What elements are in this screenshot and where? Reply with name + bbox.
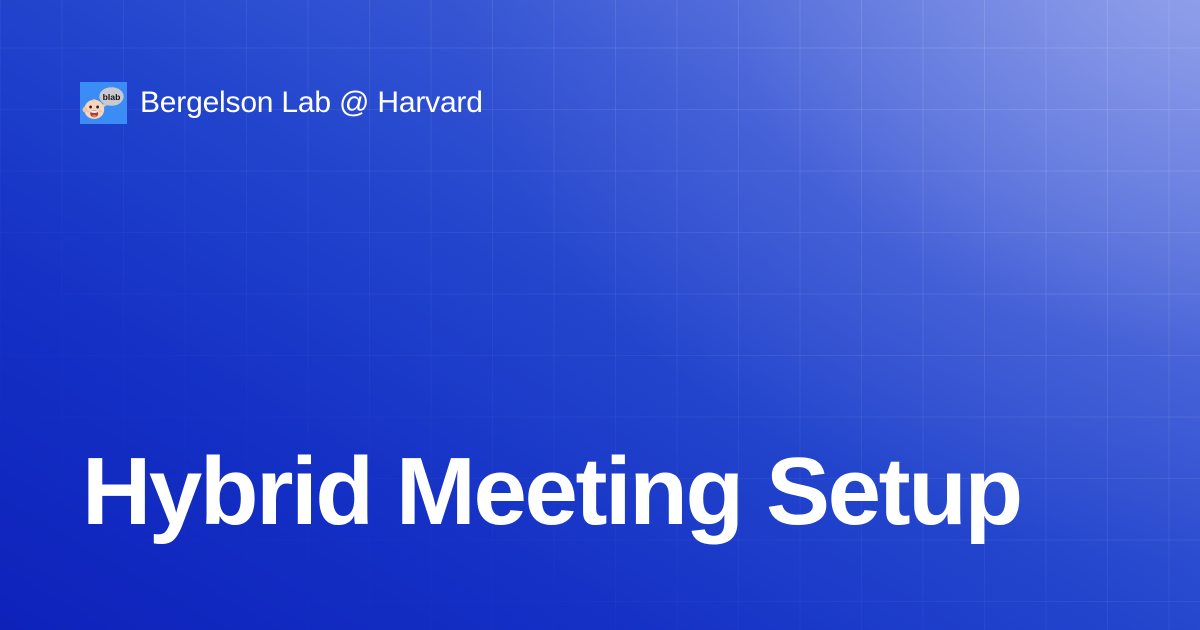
- og-image-card: blab: [0, 0, 1200, 630]
- page-title: Hybrid Meeting Setup: [82, 444, 1120, 540]
- brand-header: blab: [80, 82, 483, 124]
- brand-name-label: Bergelson Lab @ Harvard: [140, 88, 483, 118]
- svg-text:blab: blab: [103, 92, 121, 102]
- blab-baby-logo-icon: blab: [80, 82, 127, 124]
- card-content: blab: [0, 0, 1200, 630]
